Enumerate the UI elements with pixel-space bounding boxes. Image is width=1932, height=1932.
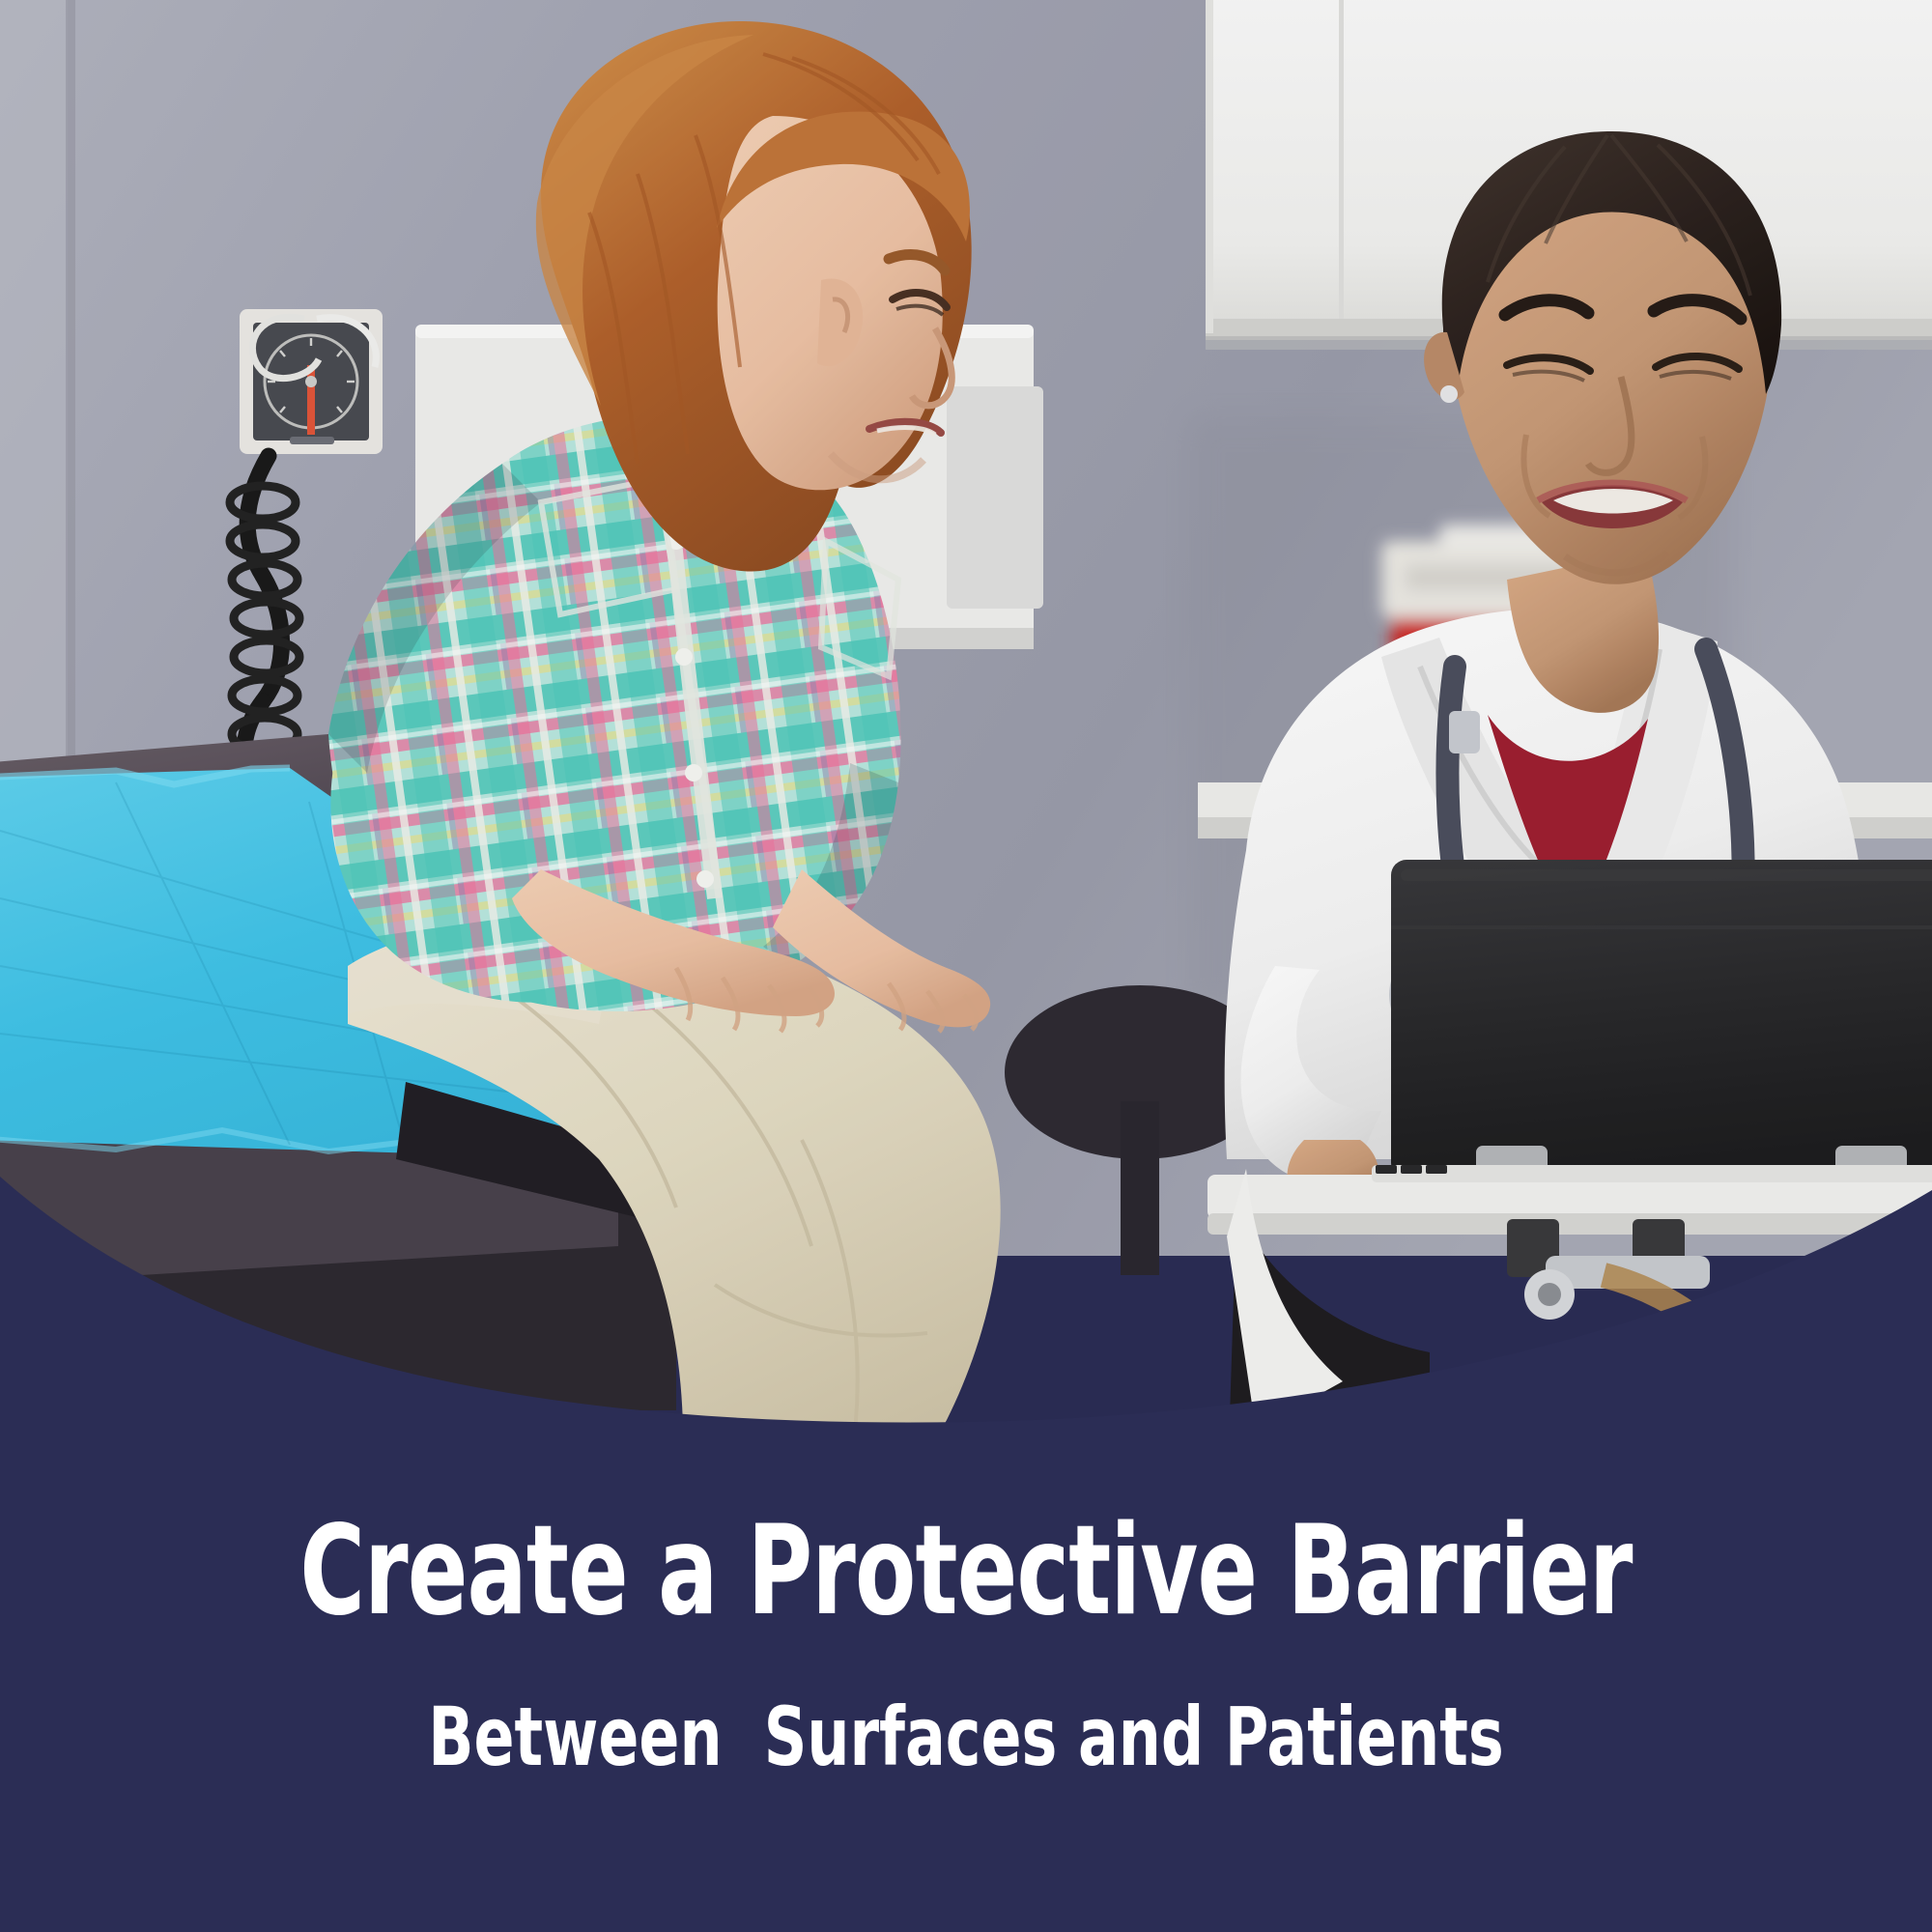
banner-subtitle: Between Surfaces and Patients [174,1636,1758,1781]
poster-root: Create a Protective Barrier Between Surf… [0,0,1932,1932]
banner-title: Create a Protective Barrier [193,1507,1739,1636]
banner-caption: Create a Protective Barrier Between Surf… [0,1507,1932,1782]
